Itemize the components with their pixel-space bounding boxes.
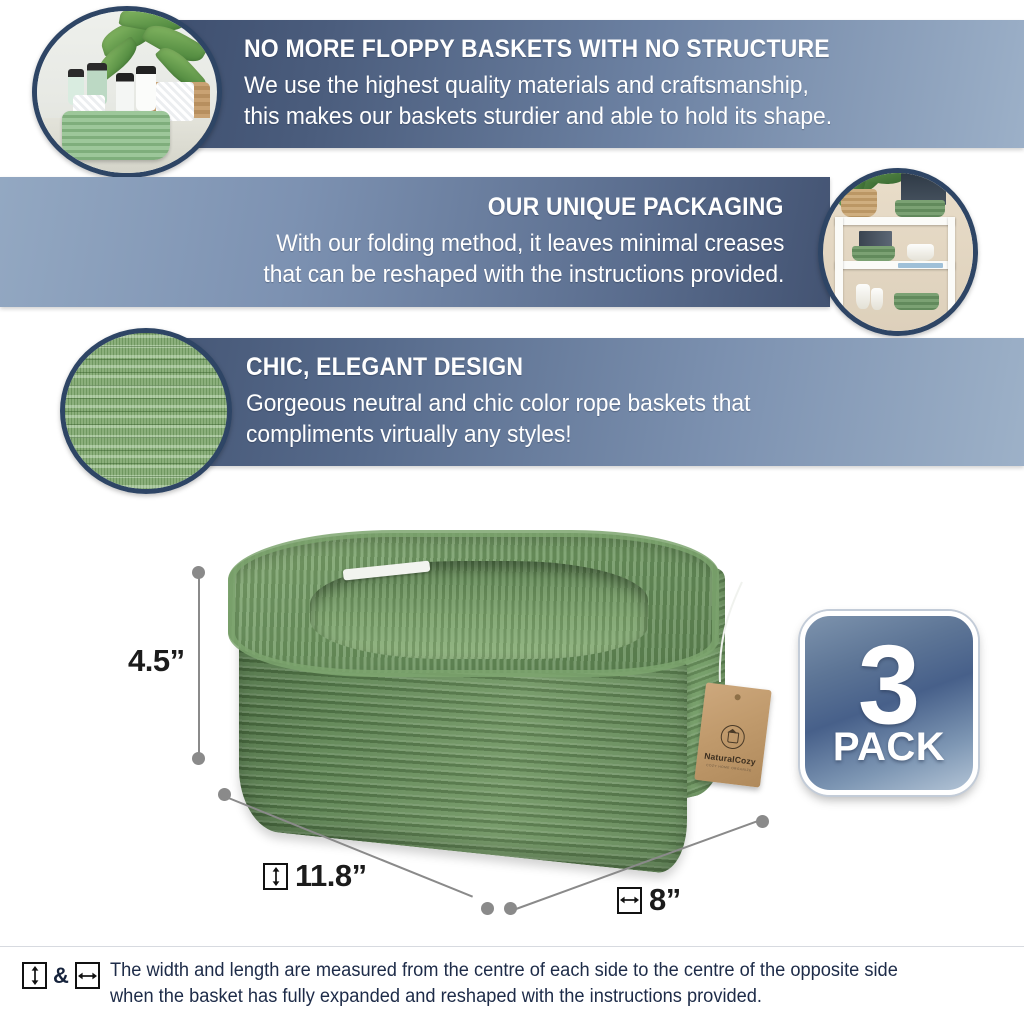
pack-count: 3 bbox=[858, 639, 920, 731]
house-heart-logo-icon bbox=[719, 724, 746, 751]
banner-title-no-structure: NO MORE FLOPPY BASKETS WITH NO STRUCTURE bbox=[244, 36, 830, 62]
vertical-arrow-icon bbox=[22, 962, 47, 989]
footer-note: & The width and length are measured from… bbox=[0, 952, 1024, 1014]
rope-texture-swatch bbox=[60, 328, 232, 494]
green-rope-basket-icon bbox=[62, 111, 170, 160]
length-dim-dot-right bbox=[481, 902, 494, 915]
ampersand-label: & bbox=[53, 963, 69, 989]
banner-title-chic-design: CHIC, ELEGANT DESIGN bbox=[246, 354, 523, 380]
banner-title-unique-packaging: OUR UNIQUE PACKAGING bbox=[488, 194, 784, 220]
banner-body-line-2: that can be reshaped with the instructio… bbox=[263, 260, 784, 291]
three-pack-badge: 3 PACK bbox=[800, 611, 978, 795]
height-dim-label: 4.5” bbox=[128, 643, 185, 679]
height-dim-line bbox=[198, 572, 200, 756]
banner-body-unique-packaging: With our folding method, it leaves minim… bbox=[263, 229, 784, 290]
feature-banner-chic-design: CHIC, ELEGANT DESIGN Gorgeous neutral an… bbox=[150, 338, 1024, 466]
footer-line-1: The width and length are measured from t… bbox=[110, 958, 898, 984]
banner-body-chic-design: Gorgeous neutral and chic color rope bas… bbox=[246, 389, 750, 450]
banner-body-line-1: Gorgeous neutral and chic color rope bas… bbox=[246, 389, 750, 420]
width-dim-label: 8” bbox=[617, 882, 681, 918]
horizontal-arrow-icon bbox=[617, 887, 642, 914]
bathroom-basket-photo bbox=[32, 6, 222, 178]
bookshelf-baskets-photo bbox=[818, 168, 978, 336]
banner-body-line-2: compliments virtually any styles! bbox=[246, 420, 750, 451]
horizontal-arrow-icon bbox=[75, 962, 100, 989]
banner-body-line-1: We use the highest quality materials and… bbox=[244, 71, 832, 102]
feature-banner-no-structure: NO MORE FLOPPY BASKETS WITH NO STRUCTURE… bbox=[176, 20, 1024, 148]
height-dim-dot-bottom bbox=[192, 752, 205, 765]
pack-label: PACK bbox=[833, 727, 945, 767]
banner-body-line-2: this makes our baskets sturdier and able… bbox=[244, 102, 832, 133]
length-dim-label: 11.8” bbox=[263, 858, 367, 894]
feature-banner-unique-packaging: OUR UNIQUE PACKAGING With our folding me… bbox=[0, 177, 830, 307]
banner-body-no-structure: We use the highest quality materials and… bbox=[244, 71, 832, 132]
shelf-basket-bottom-icon bbox=[894, 293, 939, 310]
green-rope-basket-product bbox=[206, 526, 752, 876]
woven-planter-icon bbox=[841, 189, 877, 217]
product-dimensions-diagram: NaturalCozy COZY HOME ORGANIZE 4.5” 11.8… bbox=[0, 490, 1024, 950]
height-dim-value: 4.5” bbox=[128, 643, 185, 679]
banner-body-line-1: With our folding method, it leaves minim… bbox=[263, 229, 784, 260]
width-dim-value: 8” bbox=[649, 882, 681, 918]
infographic-stage: NO MORE FLOPPY BASKETS WITH NO STRUCTURE… bbox=[0, 0, 1024, 1014]
footer-divider bbox=[0, 946, 1024, 947]
width-dim-dot-right bbox=[756, 815, 769, 828]
hangtag-string bbox=[690, 580, 748, 688]
length-dim-value: 11.8” bbox=[295, 858, 367, 894]
vertical-arrow-icon bbox=[263, 863, 288, 890]
shelf-basket-middle-icon bbox=[852, 246, 896, 262]
hangtag-naturalcozy: NaturalCozy COZY HOME ORGANIZE bbox=[694, 682, 771, 787]
shelf-basket-top-icon bbox=[895, 200, 945, 217]
footer-line-2: when the basket has fully expanded and r… bbox=[110, 984, 898, 1010]
